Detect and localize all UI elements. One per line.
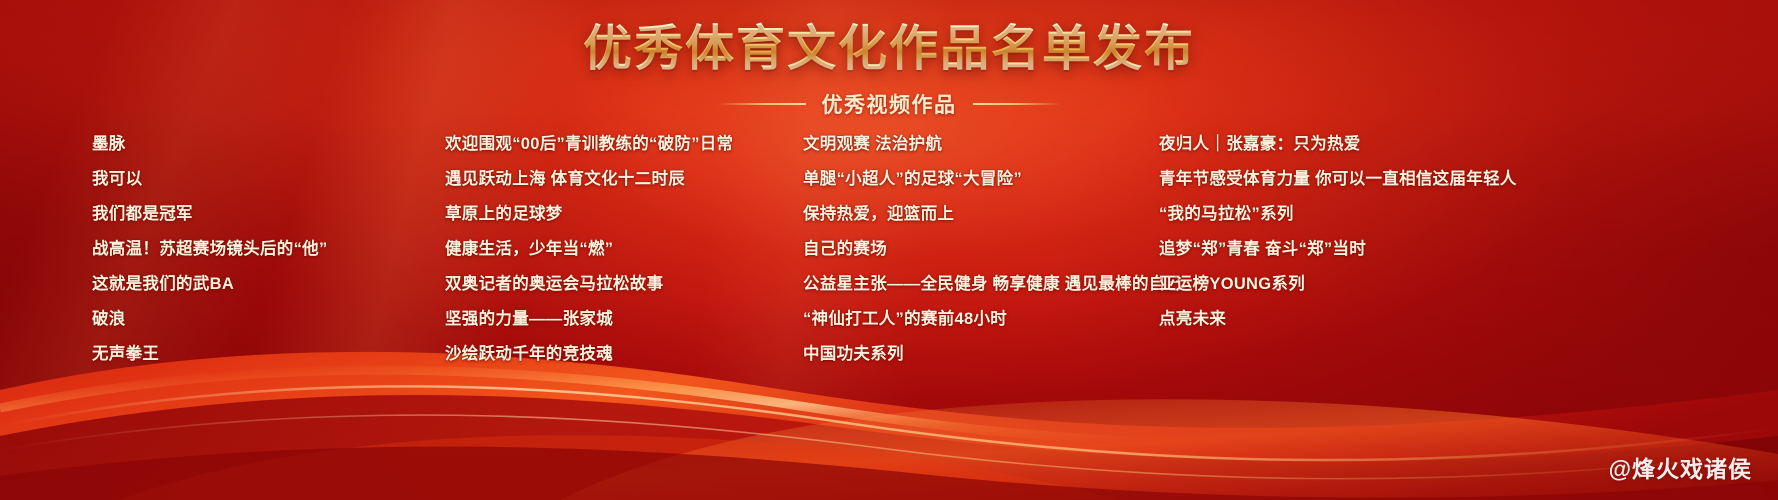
entry-column-4: 夜归人｜张嘉豪：只为热爱 青年节感受体育力量 你可以一直相信这届年轻人 “我的马… bbox=[1159, 136, 1517, 381]
list-item: 点亮未来 bbox=[1159, 311, 1517, 328]
list-item: 保持热爱，迎篮而上 bbox=[803, 206, 1159, 223]
list-item: 无声拳王 bbox=[92, 346, 445, 363]
entry-column-3: 文明观赛 法治护航 单腿“小超人”的足球“大冒险” 保持热爱，迎篮而上 自己的赛… bbox=[803, 136, 1159, 381]
list-item: 健康生活，少年当“燃” bbox=[445, 241, 803, 258]
subtitle-rule-left bbox=[718, 103, 806, 105]
list-item: 破浪 bbox=[92, 311, 445, 328]
page-title: 优秀体育文化作品名单发布 bbox=[579, 22, 1199, 77]
list-item: 双奥记者的奥运会马拉松故事 bbox=[445, 276, 803, 293]
list-item: 公益星主张——全民健身 畅享健康 遇见最棒的自己 bbox=[803, 276, 1159, 293]
poster-header: 优秀体育文化作品名单发布 优秀视频作品 bbox=[0, 22, 1778, 119]
list-item: “我的马拉松”系列 bbox=[1159, 206, 1517, 223]
list-item: 我可以 bbox=[92, 171, 445, 188]
list-item: 青年节感受体育力量 你可以一直相信这届年轻人 bbox=[1159, 171, 1517, 188]
list-item: 沙绘跃动千年的竞技魂 bbox=[445, 346, 803, 363]
list-item: 夜归人｜张嘉豪：只为热爱 bbox=[1159, 136, 1517, 153]
list-item: 坚强的力量——张家城 bbox=[445, 311, 803, 328]
entry-column-2: 欢迎围观“00后”青训教练的“破防”日常 遇见跃动上海 体育文化十二时辰 草原上… bbox=[445, 136, 803, 381]
list-item: 战高温！苏超赛场镜头后的“他” bbox=[92, 241, 445, 258]
list-item: 亚运榜YOUNG系列 bbox=[1159, 276, 1517, 293]
list-item: 自己的赛场 bbox=[803, 241, 1159, 258]
entry-column-1: 墨脉 我可以 我们都是冠军 战高温！苏超赛场镜头后的“他” 这就是我们的武BA … bbox=[92, 136, 445, 381]
poster-stage: 优秀体育文化作品名单发布 优秀视频作品 墨脉 我可以 我们都是冠军 战高温！苏超… bbox=[0, 0, 1778, 500]
list-item: 欢迎围观“00后”青训教练的“破防”日常 bbox=[445, 136, 803, 153]
section-subtitle: 优秀视频作品 bbox=[822, 89, 957, 119]
list-item: 遇见跃动上海 体育文化十二时辰 bbox=[445, 171, 803, 188]
subtitle-rule-right bbox=[973, 103, 1061, 105]
list-item: 追梦“郑”青春 奋斗“郑”当时 bbox=[1159, 241, 1517, 258]
entry-columns: 墨脉 我可以 我们都是冠军 战高温！苏超赛场镜头后的“他” 这就是我们的武BA … bbox=[0, 136, 1778, 381]
list-item: 墨脉 bbox=[92, 136, 445, 153]
list-item: 我们都是冠军 bbox=[92, 206, 445, 223]
watermark: @烽火戏诸侯 bbox=[1609, 450, 1752, 484]
list-item: 这就是我们的武BA bbox=[92, 276, 445, 293]
list-item: “神仙打工人”的赛前48小时 bbox=[803, 311, 1159, 328]
subtitle-row: 优秀视频作品 bbox=[0, 89, 1778, 119]
list-item: 草原上的足球梦 bbox=[445, 206, 803, 223]
list-item: 文明观赛 法治护航 bbox=[803, 136, 1159, 153]
list-item: 单腿“小超人”的足球“大冒险” bbox=[803, 171, 1159, 188]
list-item: 中国功夫系列 bbox=[803, 346, 1159, 363]
